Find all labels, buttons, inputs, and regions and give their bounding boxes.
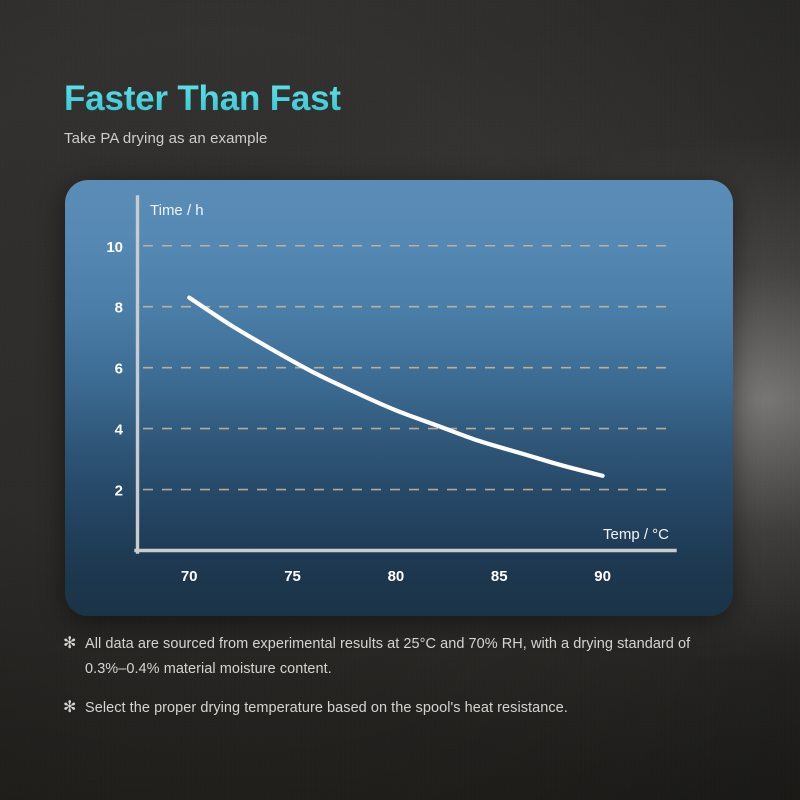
x-tick-labels: 7075808590: [181, 568, 611, 585]
drying-time-chart: Time / h Temp / °C 246810 7075808590: [65, 180, 733, 616]
footnote-text: Select the proper drying temperature bas…: [85, 696, 723, 721]
y-tick-8: 8: [115, 300, 123, 317]
y-tick-10: 10: [106, 239, 123, 256]
page-title: Faster Than Fast: [64, 78, 341, 120]
drying-time-curve: [189, 298, 602, 476]
footnotes: ✻ All data are sourced from experimental…: [63, 632, 723, 735]
y-tick-6: 6: [115, 361, 123, 378]
x-tick-80: 80: [388, 568, 405, 585]
footnote-text: All data are sourced from experimental r…: [85, 632, 723, 682]
page-subtitle: Take PA drying as an example: [64, 130, 267, 147]
y-axis-caption: Time / h: [150, 202, 204, 219]
chart-card: Time / h Temp / °C 246810 7075808590: [65, 180, 733, 616]
footnote-item: ✻ Select the proper drying temperature b…: [63, 696, 723, 721]
chart-axes: [136, 197, 675, 552]
chart-gridlines: [143, 246, 675, 490]
x-tick-85: 85: [491, 568, 508, 585]
y-tick-2: 2: [115, 483, 123, 500]
x-tick-70: 70: [181, 568, 198, 585]
x-tick-90: 90: [594, 568, 611, 585]
x-axis-caption: Temp / °C: [603, 526, 669, 543]
asterisk-icon: ✻: [63, 696, 85, 720]
y-tick-4: 4: [115, 422, 124, 439]
footnote-item: ✻ All data are sourced from experimental…: [63, 632, 723, 682]
x-tick-75: 75: [284, 568, 301, 585]
y-tick-labels: 246810: [106, 239, 123, 500]
page-root: Faster Than Fast Take PA drying as an ex…: [0, 0, 800, 800]
asterisk-icon: ✻: [63, 632, 85, 656]
